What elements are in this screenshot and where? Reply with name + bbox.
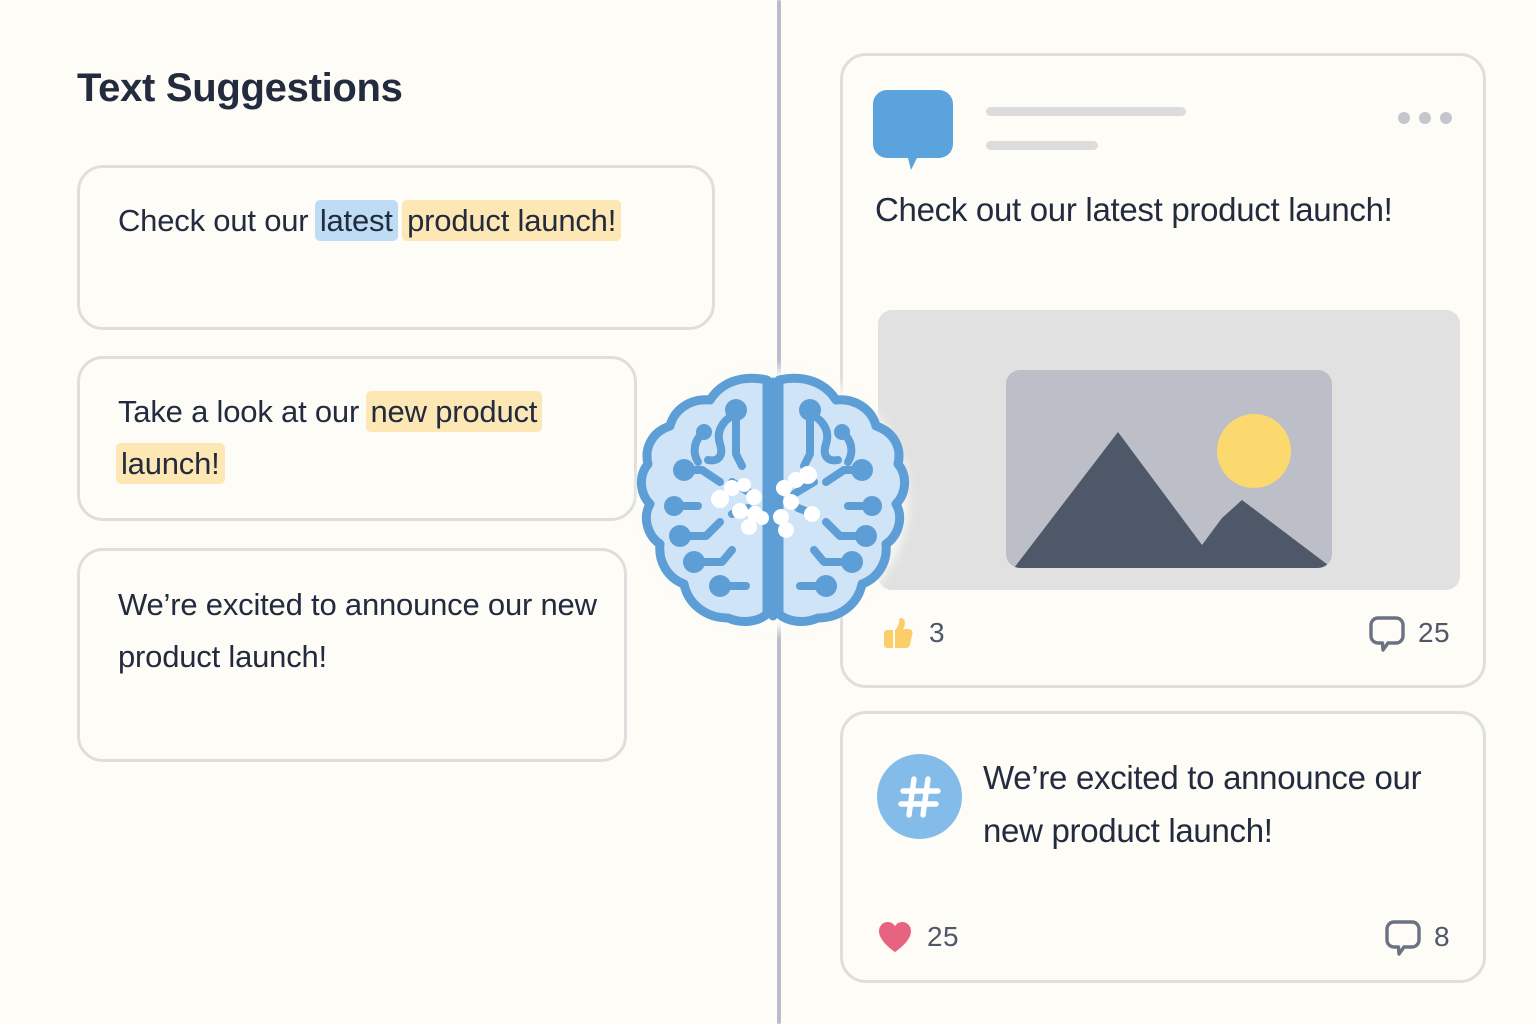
suggestion-text-3: We’re excited to announce our new produc… [118,579,604,683]
suggestion-2-part-0: Take a look at our [118,394,368,429]
suggestion-card-3[interactable]: We’re excited to announce our new produc… [77,548,627,762]
comment-icon [1385,918,1421,956]
suggestion-card-2[interactable]: Take a look at our new product launch! [77,356,637,521]
brain-illustration [636,366,910,634]
more-options-icon[interactable] [1398,112,1452,124]
suggestion-text-1: Check out our latest product launch! [118,195,692,247]
brain-ai-icon [636,366,910,634]
post-card-1[interactable]: Check out our latest product launch! [840,53,1486,688]
post-2-like[interactable]: 25 [876,919,959,955]
post-1-like-count: 3 [929,617,945,649]
page-title: Text Suggestions [77,66,403,111]
speech-bubble-icon [871,88,955,172]
more-dot-3 [1440,112,1452,124]
suggestion-1-part-0: Check out our [118,203,317,238]
suggestion-text-2: Take a look at our new product launch! [118,386,614,490]
post-1-comment[interactable]: 25 [1369,614,1450,652]
suggestion-1-highlight-yellow: product launch! [402,200,621,241]
author-name-placeholder [986,107,1186,116]
post-2-body: We’re excited to announce our new produc… [983,751,1457,857]
author-placeholder-lines [986,107,1186,150]
post-2-comment-count: 8 [1434,921,1450,953]
more-dot-2 [1419,112,1431,124]
post-1-comment-count: 25 [1418,617,1450,649]
heart-icon [876,919,914,955]
post-1-body: Check out our latest product launch! [875,186,1453,233]
author-meta-placeholder [986,141,1098,150]
post-2-like-count: 25 [927,921,959,953]
hashtag-glyph [895,772,945,822]
illustration-canvas: Text Suggestions Check out our latest pr… [0,0,1536,1024]
post-1-header [871,88,1455,174]
suggestion-1-highlight-blue: latest [315,200,398,241]
post-1-engagement: 3 25 [876,613,1450,653]
image-placeholder-icon [1006,370,1332,568]
hashtag-icon [877,754,962,839]
post-2-engagement: 25 8 [876,918,1450,956]
post-2-comment[interactable]: 8 [1385,918,1450,956]
suggestion-card-1[interactable]: Check out our latest product launch! [77,165,715,330]
more-dot-1 [1398,112,1410,124]
comment-icon [1369,614,1405,652]
post-1-media[interactable] [878,310,1460,590]
post-card-2[interactable]: We’re excited to announce our new produc… [840,711,1486,983]
